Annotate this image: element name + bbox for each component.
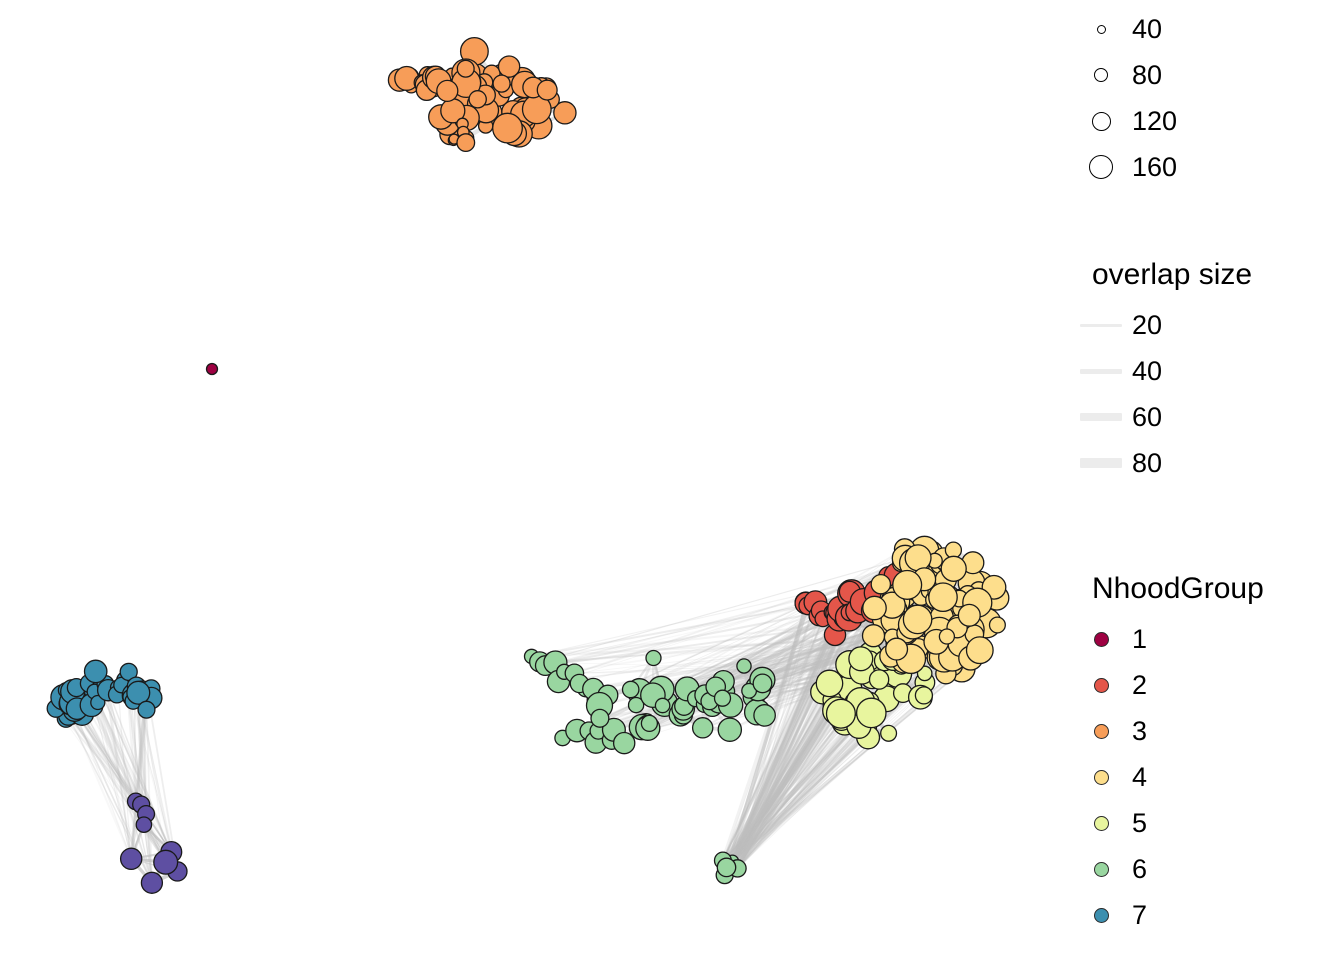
nhoodgroup-key-dot-wrap [1070,862,1132,877]
overlap-size-legend-title: overlap size [1092,258,1344,292]
graph-node[interactable] [85,660,107,682]
overlap-size-key-line [1080,458,1122,468]
overlap-size-legend-label: 20 [1132,310,1162,340]
graph-node[interactable] [886,638,908,660]
graph-node[interactable] [941,556,966,581]
overlap-size-legend-row: 80 [1070,440,1344,486]
graph-node[interactable] [863,625,885,647]
nhoodgroup-key-dot-wrap [1070,724,1132,739]
overlap-size-legend-rows: 20406080 [1070,302,1344,486]
overlap-size-key-line [1080,324,1122,327]
nhoodgroup-key-dot-wrap [1070,908,1132,923]
graph-node[interactable] [141,872,162,893]
nhoodgroup-legend-row[interactable]: 4 [1070,754,1344,800]
nhoodgroup-legend-label: 3 [1132,716,1147,746]
graph-node[interactable] [457,60,474,77]
nhoodgroup-legend-label: 7 [1132,900,1147,930]
node-size-legend: 4080120160 [1070,6,1344,190]
graph-node[interactable] [655,698,669,712]
node-size-legend-row: 160 [1070,144,1344,190]
graph-node[interactable] [437,80,458,101]
nhoodgroup-legend-row[interactable]: 6 [1070,846,1344,892]
graph-node[interactable] [623,681,639,697]
overlap-size-key-line-wrap [1070,324,1132,327]
node-layer[interactable] [47,38,1009,894]
graph-node[interactable] [614,733,635,754]
graph-node[interactable] [718,718,741,741]
graph-node[interactable] [849,647,873,671]
graph-node[interactable] [893,571,922,600]
node-size-key-circle-wrap [1070,155,1132,179]
graph-node[interactable] [827,699,856,728]
node-size-legend-label: 160 [1132,152,1177,182]
nhoodgroup-legend-label: 5 [1132,808,1147,838]
nhoodgroup-legend-label: 4 [1132,762,1147,792]
nhoodgroup-legend-rows: 1234567 [1070,616,1344,938]
graph-node[interactable] [493,75,510,92]
nhoodgroup-key-dot [1094,862,1109,877]
figure-canvas: 4080120160 overlap size 20406080 NhoodGr… [0,0,1344,960]
graph-node[interactable] [136,817,151,832]
nhoodgroup-key-dot-wrap [1070,816,1132,831]
nhoodgroup-legend-row[interactable]: 3 [1070,708,1344,754]
node-size-legend-row: 40 [1070,6,1344,52]
graph-node[interactable] [903,605,931,633]
graph-node[interactable] [693,718,713,738]
graph-node[interactable] [457,134,475,152]
nhoodgroup-key-dot [1094,678,1109,693]
overlap-size-key-line [1080,413,1122,421]
nhoodgroup-legend-row[interactable]: 1 [1070,616,1344,662]
node-size-key-circle [1092,112,1111,131]
graph-node[interactable] [154,850,178,874]
overlap-size-key-line-wrap [1070,458,1132,468]
graph-node[interactable] [753,674,772,693]
graph-node[interactable] [493,113,523,143]
node-size-key-circle [1094,68,1108,82]
graph-node[interactable] [939,629,954,644]
legend-panel: 4080120160 overlap size 20406080 NhoodGr… [1070,0,1344,960]
nhoodgroup-key-dot-wrap [1070,632,1132,647]
node-size-legend-row: 80 [1070,52,1344,98]
graph-node[interactable] [857,698,886,727]
graph-node[interactable] [881,725,897,741]
node-size-legend-rows: 4080120160 [1070,6,1344,190]
nhoodgroup-legend-row[interactable]: 2 [1070,662,1344,708]
graph-node[interactable] [990,617,1006,633]
nhoodgroup-key-dot [1094,816,1109,831]
nhoodgroup-legend-label: 6 [1132,854,1147,884]
overlap-size-legend-row: 20 [1070,302,1344,348]
nhoodgroup-key-dot [1094,770,1109,785]
graph-node[interactable] [863,596,886,619]
node-size-key-circle-wrap [1070,25,1132,34]
graph-node[interactable] [469,91,486,108]
overlap-size-legend-row: 40 [1070,348,1344,394]
overlap-size-key-line-wrap [1070,369,1132,374]
overlap-size-legend-label: 80 [1132,448,1162,478]
node-size-legend-label: 120 [1132,106,1177,136]
edge-layer [56,51,998,882]
overlap-size-legend-row: 60 [1070,394,1344,440]
graph-node[interactable] [905,545,931,571]
graph-node[interactable] [958,604,980,626]
graph-node[interactable] [121,848,142,869]
graph-node[interactable] [915,687,932,704]
graph-node[interactable] [929,583,957,611]
overlap-size-legend: overlap size 20406080 [1070,258,1344,486]
graph-node[interactable] [207,364,218,375]
nhoodgroup-key-dot [1094,632,1109,647]
network-plot-panel [0,0,1070,960]
graph-node[interactable] [591,709,609,727]
graph-node[interactable] [641,715,657,731]
overlap-size-key-line-wrap [1070,413,1132,421]
nhoodgroup-legend-label: 2 [1132,670,1147,700]
nhoodgroup-key-dot [1094,724,1109,739]
nhoodgroup-key-dot [1094,908,1109,923]
nhoodgroup-legend: NhoodGroup 1234567 [1070,572,1344,938]
graph-node[interactable] [871,575,890,594]
nhoodgroup-legend-row[interactable]: 5 [1070,800,1344,846]
graph-node[interactable] [717,858,735,876]
network-graph[interactable] [0,0,1070,960]
graph-node[interactable] [967,637,994,664]
graph-node[interactable] [715,690,731,706]
graph-node[interactable] [754,705,775,726]
graph-node[interactable] [138,701,155,718]
node-size-key-circle [1089,155,1113,179]
node-size-legend-row: 120 [1070,98,1344,144]
nhoodgroup-legend-label: 1 [1132,624,1147,654]
node-size-key-circle-wrap [1070,112,1132,131]
nhoodgroup-legend-row[interactable]: 7 [1070,892,1344,938]
node-size-legend-label: 80 [1132,60,1162,90]
overlap-size-legend-label: 60 [1132,402,1162,432]
node-size-key-circle [1097,25,1106,34]
overlap-size-legend-label: 40 [1132,356,1162,386]
graph-node[interactable] [646,651,661,666]
graph-node[interactable] [737,659,751,673]
overlap-size-key-line [1080,369,1122,374]
graph-node[interactable] [870,670,889,689]
nhoodgroup-key-dot-wrap [1070,770,1132,785]
node-size-legend-label: 40 [1132,14,1162,44]
node-size-key-circle-wrap [1070,68,1132,82]
nhoodgroup-legend-title: NhoodGroup [1092,572,1344,606]
graph-node[interactable] [537,80,557,100]
graph-node[interactable] [816,670,842,696]
nhoodgroup-key-dot-wrap [1070,678,1132,693]
